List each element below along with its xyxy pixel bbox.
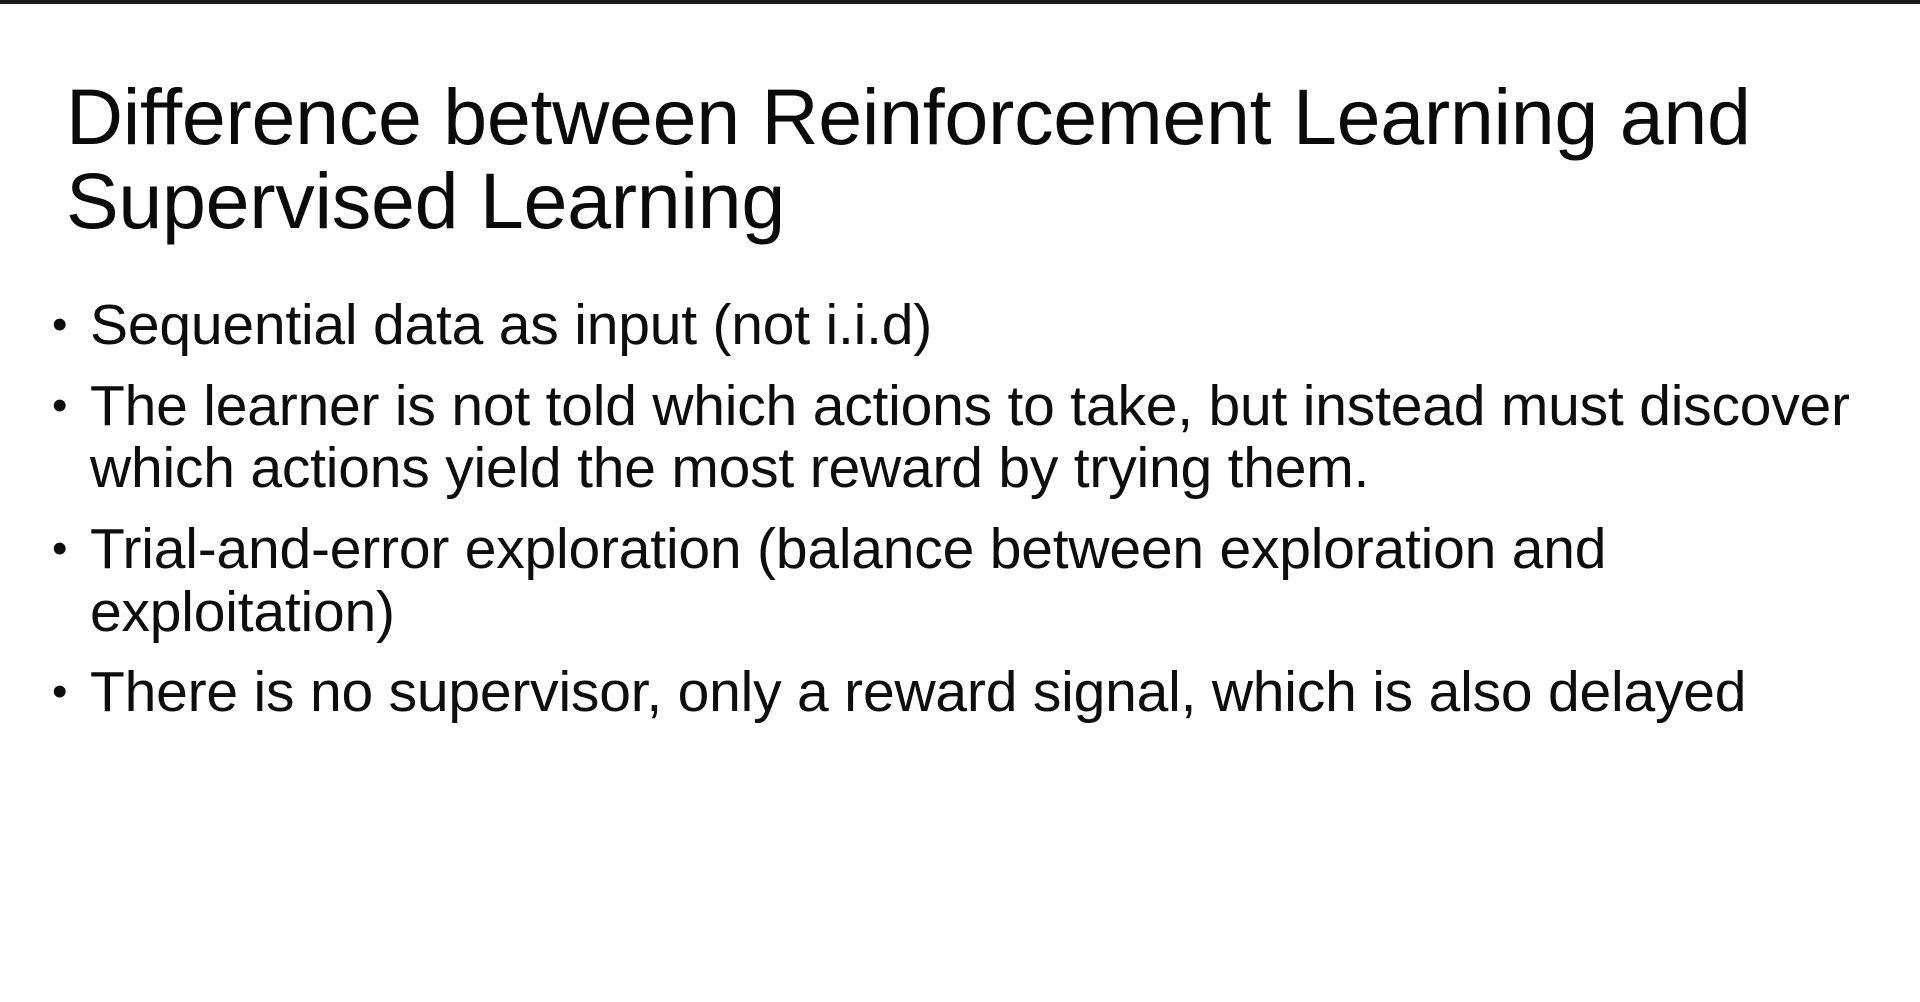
page-title: Difference between Reinforcement Learnin… <box>66 75 1856 242</box>
bullet-point-icon: • <box>52 375 90 437</box>
list-item[interactable]: • The learner is not told which actions … <box>52 375 1882 500</box>
bullet-list: • Sequential data as input (not i.i.d) •… <box>52 294 1882 742</box>
bullet-point-icon: • <box>52 661 90 723</box>
list-item[interactable]: • Sequential data as input (not i.i.d) <box>52 294 1882 357</box>
list-item-text: There is no supervisor, only a reward si… <box>90 661 1882 724</box>
list-item[interactable]: • There is no supervisor, only a reward … <box>52 661 1882 724</box>
list-item-text: The learner is not told which actions to… <box>90 375 1882 500</box>
list-item-text: Sequential data as input (not i.i.d) <box>90 294 1882 357</box>
list-item-text: Trial-and-error exploration (balance bet… <box>90 518 1882 643</box>
list-item[interactable]: • Trial-and-error exploration (balance b… <box>52 518 1882 643</box>
bullet-point-icon: • <box>52 518 90 580</box>
bullet-point-icon: • <box>52 294 90 356</box>
slide-canvas: Difference between Reinforcement Learnin… <box>0 0 1920 1002</box>
